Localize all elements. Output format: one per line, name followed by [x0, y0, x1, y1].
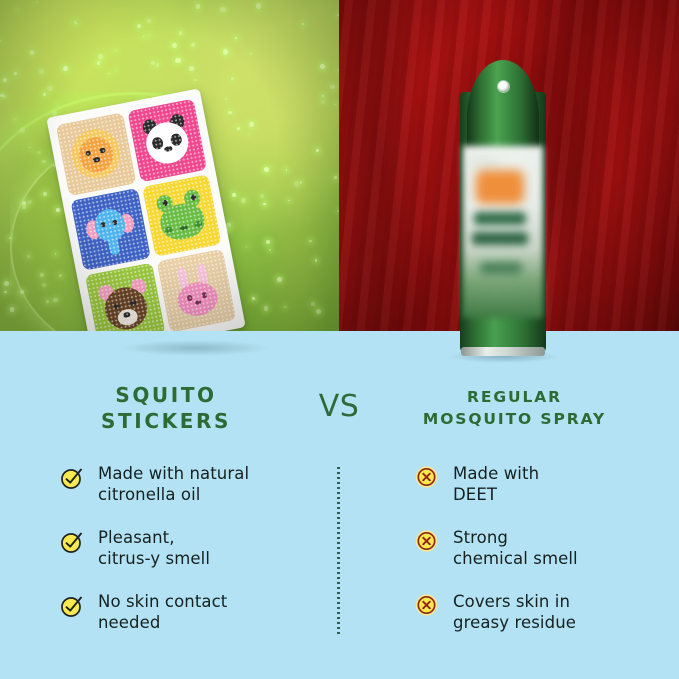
x-circle-icon — [415, 593, 441, 619]
x-circle-icon — [415, 529, 441, 555]
right-heading-line2: MOSQUITO SPRAY — [372, 408, 657, 430]
feature-line-1: No skin contact — [98, 591, 227, 612]
right-feature-list: Made withDEET Strongchemical smell Cover… — [415, 463, 665, 655]
can-label-blur-green-1 — [474, 212, 526, 225]
vertical-dotted-divider — [337, 467, 340, 635]
feature-line-1: Pleasant, — [98, 527, 210, 548]
feature-line-2: chemical smell — [453, 548, 578, 569]
left-feature-list: Made with naturalcitronella oil Pleasant… — [60, 463, 310, 655]
can-cap — [467, 60, 539, 150]
right-product-heading: REGULAR MOSQUITO SPRAY — [372, 386, 657, 430]
comparison-section: SQUITO STICKERS VS REGULAR MOSQUITO SPRA… — [0, 331, 679, 679]
photo-band — [0, 0, 679, 331]
check-circle-icon — [60, 529, 86, 555]
can-label-blur-green-3 — [480, 262, 522, 274]
left-product-photo — [0, 0, 339, 331]
feature-text: Pleasant,citrus-y smell — [98, 527, 210, 569]
feature-text: Covers skin ingreasy residue — [453, 591, 576, 633]
feature-item: Made with naturalcitronella oil — [60, 463, 310, 505]
feature-text: Made withDEET — [453, 463, 539, 505]
infographic-root: SQUITO STICKERS VS REGULAR MOSQUITO SPRA… — [0, 0, 679, 679]
feature-line-2: needed — [98, 612, 227, 633]
check-circle-icon — [60, 593, 86, 619]
can-label-blur-orange — [476, 170, 524, 204]
feature-item: Pleasant,citrus-y smell — [60, 527, 310, 569]
feature-line-2: citronella oil — [98, 484, 249, 505]
feature-item: Made withDEET — [415, 463, 665, 505]
left-heading-line1: SQUITO — [26, 382, 306, 408]
can-label-blur-green-2 — [472, 232, 528, 245]
feature-line-1: Strong — [453, 527, 578, 548]
feature-text: No skin contactneeded — [98, 591, 227, 633]
right-heading-line1: REGULAR — [372, 386, 657, 408]
feature-item: Strongchemical smell — [415, 527, 665, 569]
feature-line-1: Made with — [453, 463, 539, 484]
feature-item: No skin contactneeded — [60, 591, 310, 633]
x-circle-icon — [415, 465, 441, 491]
feature-line-2: greasy residue — [453, 612, 576, 633]
spray-can — [460, 60, 546, 360]
feature-line-1: Covers skin in — [453, 591, 576, 612]
vs-label: VS — [296, 389, 382, 424]
left-vignette — [0, 0, 339, 331]
feature-line-2: citrus-y smell — [98, 548, 210, 569]
feature-line-1: Made with natural — [98, 463, 249, 484]
left-product-heading: SQUITO STICKERS — [26, 382, 306, 434]
feature-item: Covers skin ingreasy residue — [415, 591, 665, 633]
feature-text: Made with naturalcitronella oil — [98, 463, 249, 505]
feature-line-2: DEET — [453, 484, 539, 505]
check-circle-icon — [60, 465, 86, 491]
left-heading-line2: STICKERS — [26, 408, 306, 434]
can-nozzle-icon — [498, 81, 509, 92]
feature-text: Strongchemical smell — [453, 527, 578, 569]
